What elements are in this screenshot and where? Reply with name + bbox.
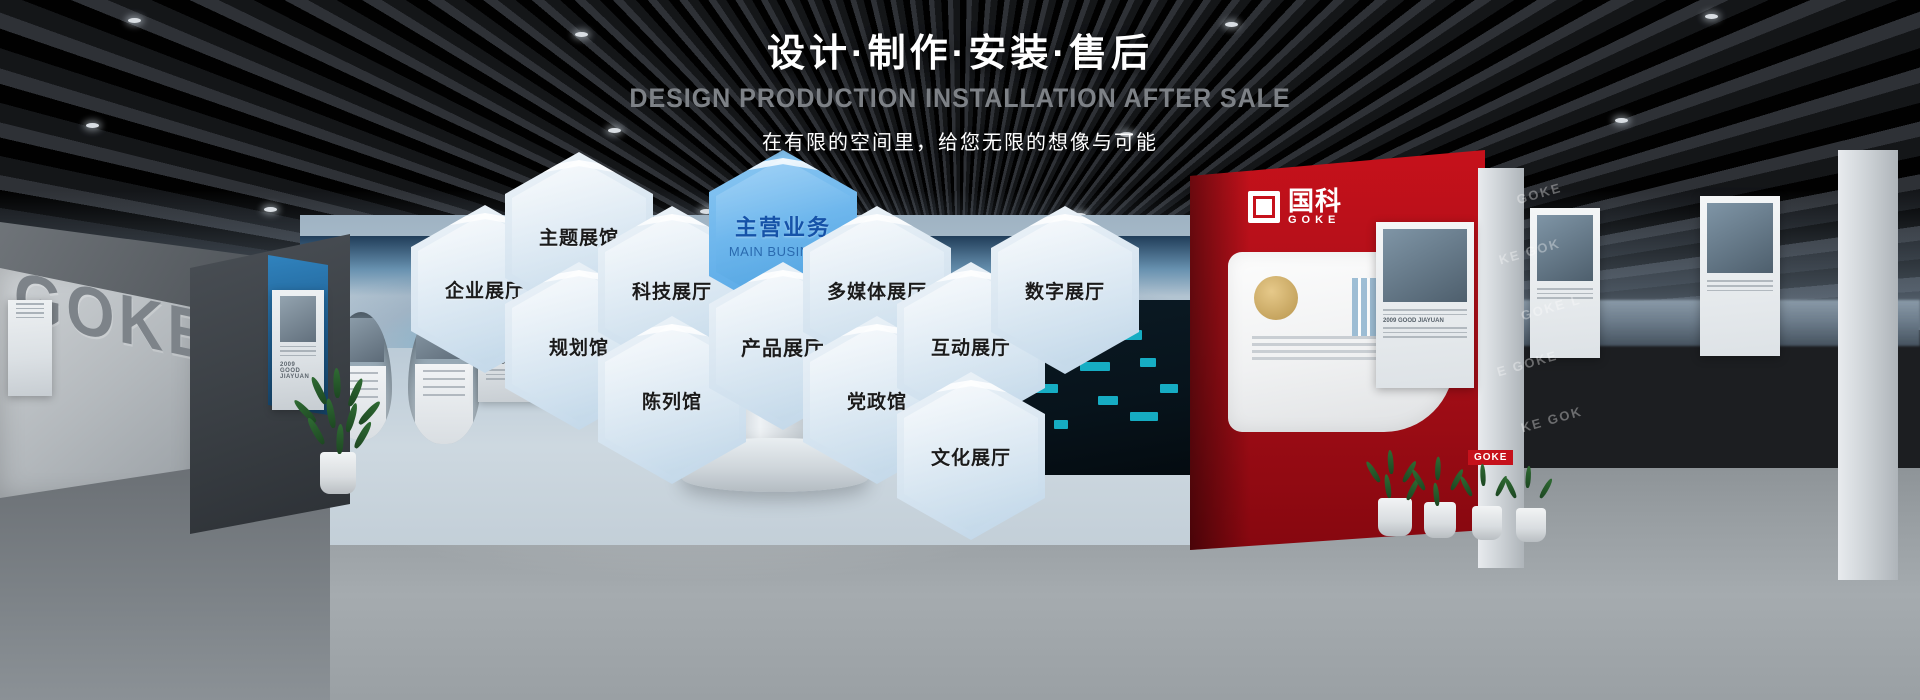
hex-label: 数字展厅 xyxy=(1025,277,1105,304)
hex-label: 陈列馆 xyxy=(642,387,702,414)
headline-title-cn: 设计·制作·安装·售后 xyxy=(0,22,1920,77)
hex-label: 互动展厅 xyxy=(931,333,1011,360)
hex-label: 科技展厅 xyxy=(632,277,712,304)
hex-label: 主营业务 xyxy=(735,210,831,242)
headline-subtitle: 在有限的空间里，给您无限的想像与可能 xyxy=(0,126,1920,155)
banner-headline: 设计·制作·安装·售后 DESIGN PRODUCTION INSTALLATI… xyxy=(0,22,1920,155)
hex-label: 规划馆 xyxy=(549,333,609,360)
hex-label: 文化展厅 xyxy=(931,443,1011,470)
showroom-banner: 2009 GOOD JIAYUAN xyxy=(0,0,1920,700)
hex-label: 党政馆 xyxy=(847,387,907,414)
headline-title-en: DESIGN PRODUCTION INSTALLATION AFTER SAL… xyxy=(67,83,1853,114)
